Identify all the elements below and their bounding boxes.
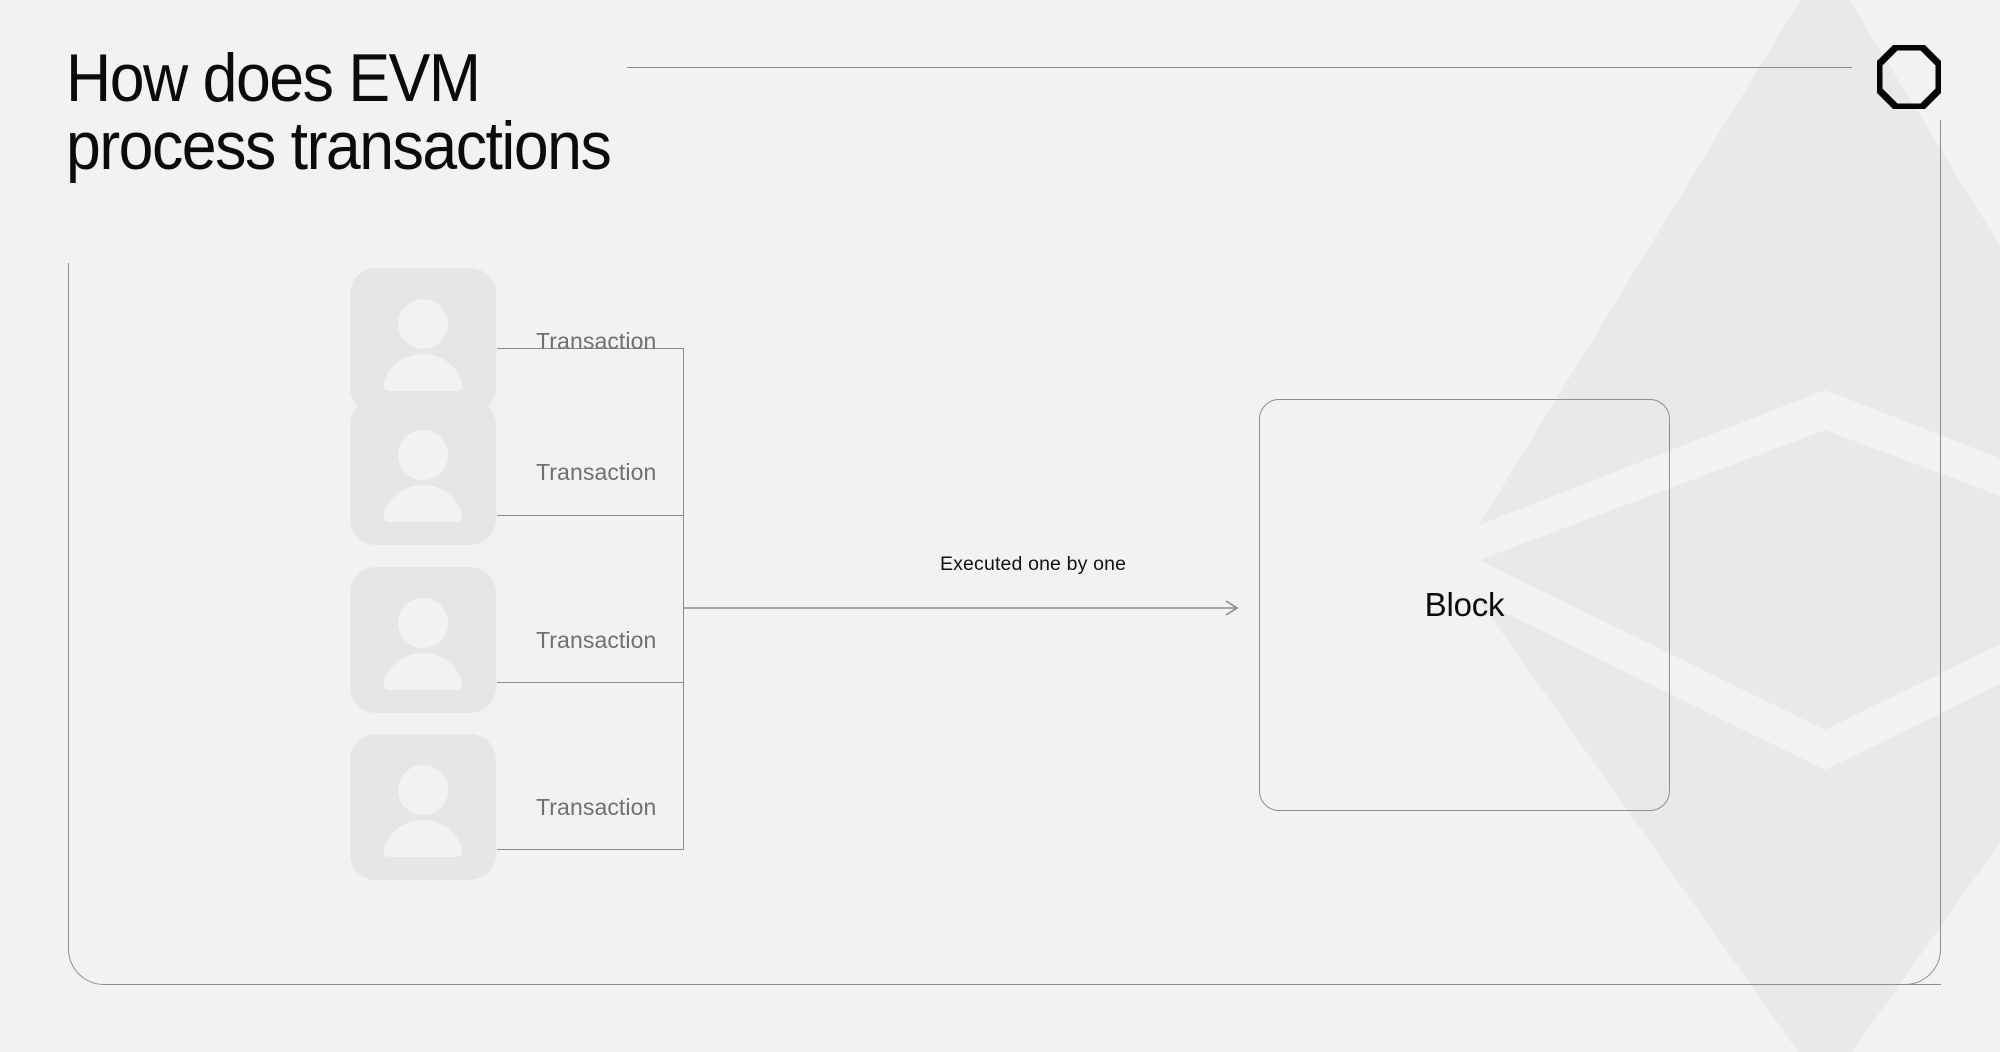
content-frame-right-edge [1940,120,1941,950]
user-avatar-icon [350,399,496,545]
octagon-logo-icon[interactable] [1877,45,1941,109]
transaction-label: Transaction [536,328,656,355]
transaction-row[interactable]: Transaction [350,399,656,545]
transaction-row[interactable]: Transaction [350,734,656,880]
transaction-label: Transaction [536,459,656,486]
block-label: Block [1425,586,1505,624]
arrow-caption: Executed one by one [940,553,1126,576]
page-title: How does EVM process transactions [66,44,610,180]
content-frame-bottom-edge [104,984,1905,985]
user-avatar-icon [350,734,496,880]
user-avatar-icon [350,567,496,713]
header-divider [627,67,1852,68]
transaction-row[interactable]: Transaction [350,567,656,713]
transaction-row[interactable]: Transaction [350,268,656,414]
right-arrow-icon [684,596,1244,620]
transaction-label: Transaction [536,794,656,821]
block-box[interactable]: Block [1259,399,1670,811]
slide-canvas: How does EVM process transactions Transa… [0,0,2000,1052]
user-avatar-icon [350,268,496,414]
transaction-label: Transaction [536,627,656,654]
